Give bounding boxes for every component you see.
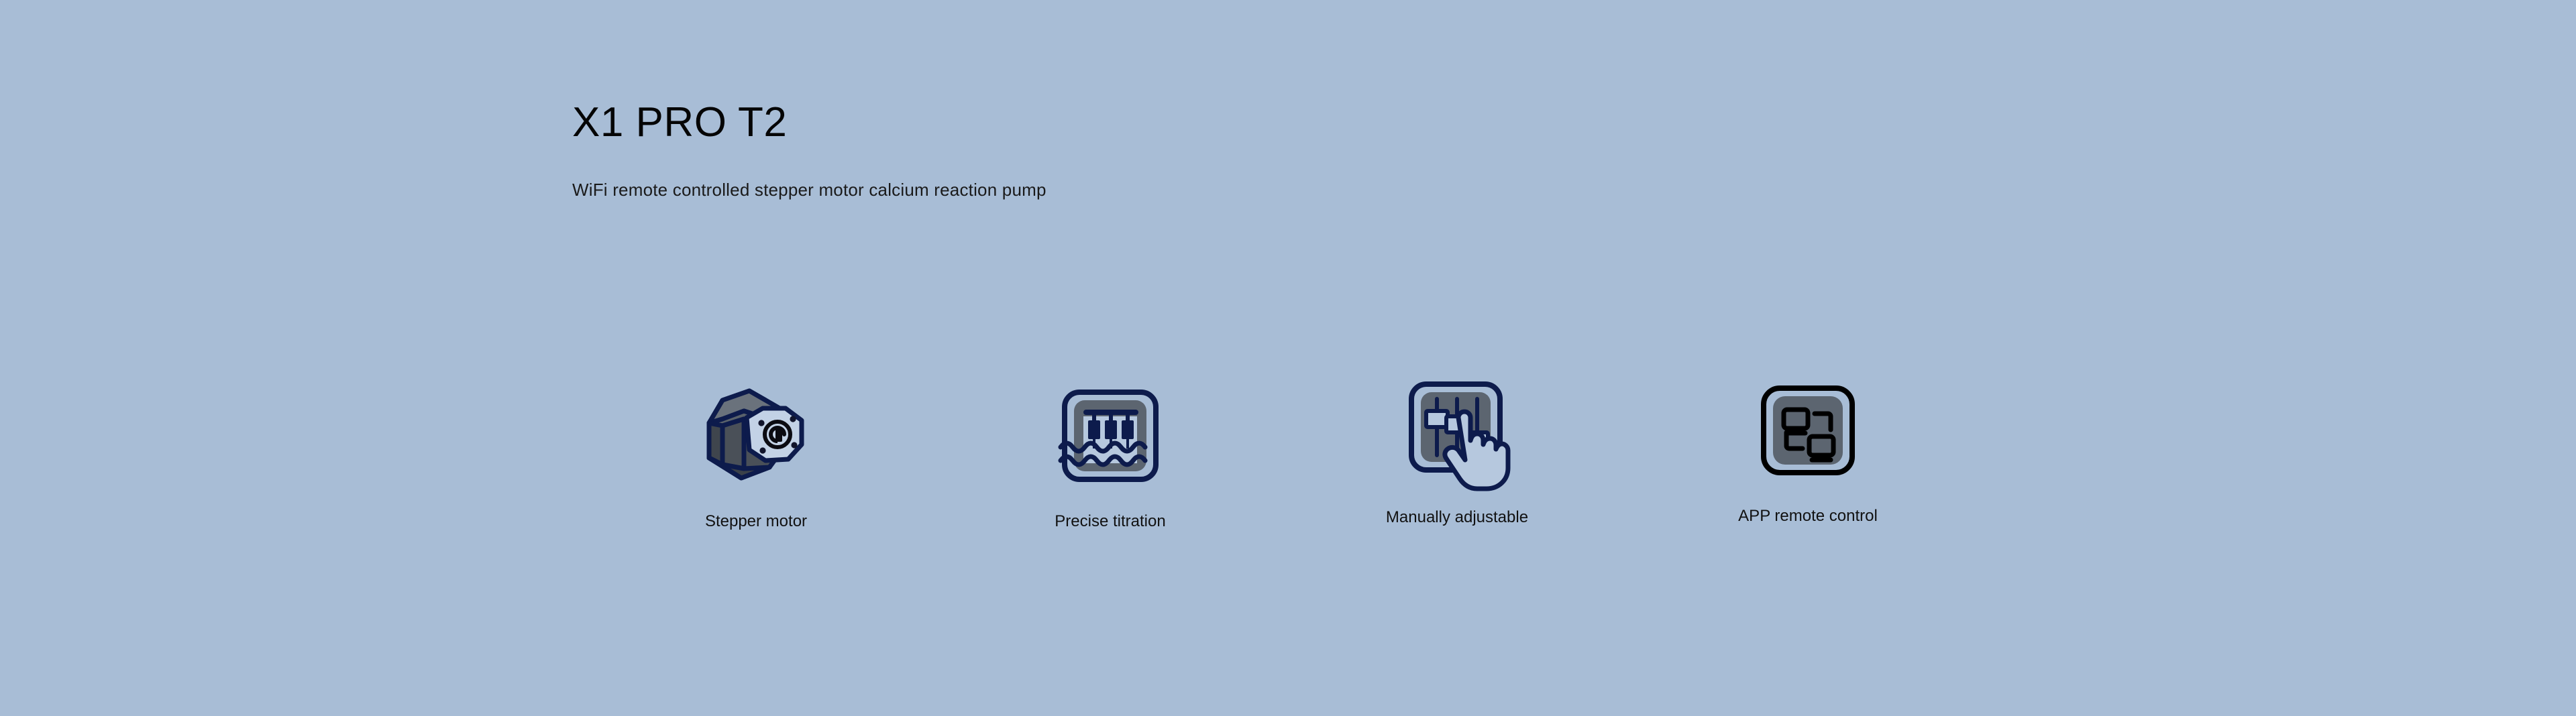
manual-slider-hand-icon — [1356, 370, 1558, 491]
precise-titration-icon — [1010, 375, 1211, 496]
feature-label: Manually adjustable — [1356, 510, 1558, 526]
product-feature-banner: X1 PRO T2 WiFi remote controlled stepper… — [0, 0, 2576, 716]
feature-label: APP remote control — [1707, 508, 1909, 524]
feature-item-app-remote-control[interactable]: APP remote control — [1707, 370, 1909, 524]
feature-list: Stepper motor — [671, 362, 1932, 563]
feature-item-precise-titration[interactable]: Precise titration — [1010, 375, 1211, 530]
feature-item-stepper-motor[interactable]: Stepper motor — [655, 375, 857, 530]
heading-block: X1 PRO T2 WiFi remote controlled stepper… — [572, 102, 1046, 198]
page-subtitle: WiFi remote controlled stepper motor cal… — [572, 143, 1046, 198]
app-remote-control-icon — [1707, 370, 1909, 491]
feature-label: Stepper motor — [655, 514, 857, 530]
feature-label: Precise titration — [1010, 514, 1211, 530]
feature-item-manually-adjustable[interactable]: Manually adjustable — [1356, 370, 1558, 526]
stepper-motor-icon — [655, 375, 857, 496]
page-title: X1 PRO T2 — [572, 102, 1046, 143]
